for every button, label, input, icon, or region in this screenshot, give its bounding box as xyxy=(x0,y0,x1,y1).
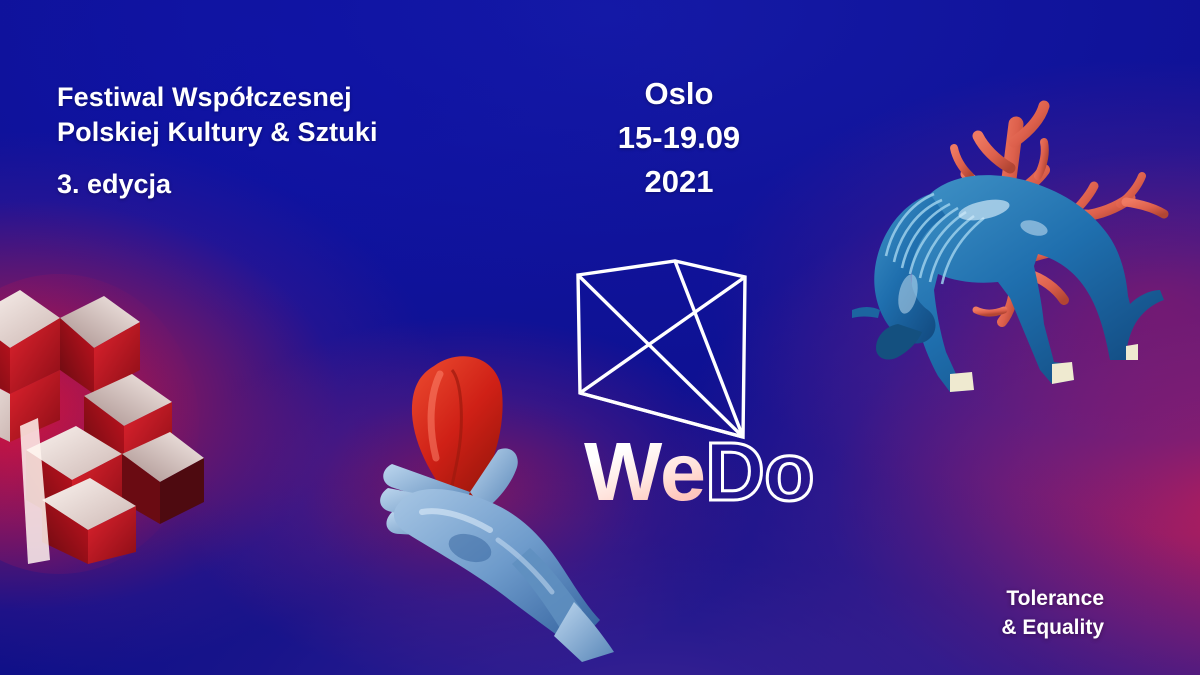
wordmark-do: Do xyxy=(705,425,814,518)
date-location-block: Oslo 15-19.09 2021 xyxy=(572,72,786,204)
date-year: 2021 xyxy=(572,160,786,204)
tagline: Tolerance & Equality xyxy=(1001,584,1104,642)
wedo-logo: WeDo xyxy=(560,248,890,533)
left-geometric-sculpture xyxy=(0,274,214,564)
wordmark-we: We xyxy=(584,425,705,518)
festival-edition: 3. edycja xyxy=(57,167,171,202)
festival-poster: Festiwal Współczesnej Polskiej Kultury &… xyxy=(0,0,1200,675)
location-city: Oslo xyxy=(572,72,786,116)
wedo-wordmark: WeDo xyxy=(584,430,814,514)
date-days-range: 15-19.09 xyxy=(572,116,786,160)
festival-title: Festiwal Współczesnej Polskiej Kultury &… xyxy=(57,80,378,150)
kite-geometric-mark xyxy=(560,248,890,448)
